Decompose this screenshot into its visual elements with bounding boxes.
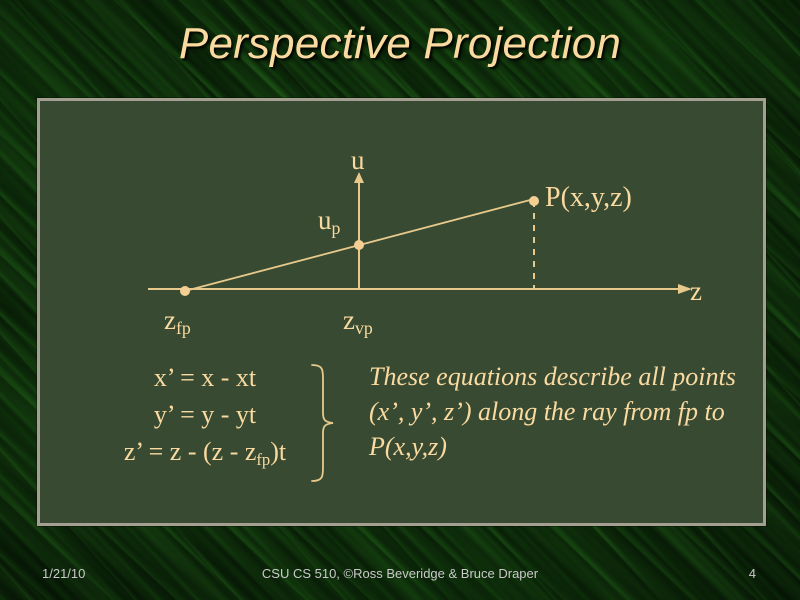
zvp-tick-label: zvp	[343, 307, 373, 334]
equation-list: x’ = x - xt y’ = y - yt z’ = z - (z - zf…	[80, 359, 330, 473]
description-text: These equations describe all points (x’,…	[369, 359, 741, 464]
equation-z-pre: z’ = z - (z - z	[124, 437, 257, 466]
up-point-label: up	[318, 207, 340, 234]
equation-x: x’ = x - xt	[80, 359, 330, 396]
u-axis-label: u	[351, 147, 365, 174]
perspective-projection-diagram	[40, 101, 769, 351]
p-point-label: P(x,y,z)	[545, 184, 632, 212]
equation-z-post: )t	[270, 437, 286, 466]
curly-brace	[306, 363, 340, 483]
zvp-label-sub: vp	[355, 318, 373, 338]
zvp-label-base: z	[343, 305, 355, 335]
up-label-sub: p	[332, 218, 341, 238]
equation-z-sub: fp	[256, 450, 270, 469]
zfp-label-sub: fp	[176, 318, 191, 338]
focal-point-dot	[180, 286, 190, 296]
slide: Perspective Projection u up P(x,y,z)	[0, 0, 800, 600]
zfp-tick-label: zfp	[164, 307, 191, 334]
z-axis-label: z	[690, 278, 702, 305]
equation-y: y’ = y - yt	[80, 396, 330, 433]
p-point-dot	[529, 196, 539, 206]
u-axis	[354, 172, 364, 289]
up-label-base: u	[318, 205, 332, 235]
z-axis	[148, 284, 692, 294]
zfp-label-base: z	[164, 305, 176, 335]
slide-title: Perspective Projection	[0, 16, 800, 72]
footer-page-number: 4	[0, 566, 800, 581]
content-panel: u up P(x,y,z) z zfp zvp x’ = x - xt y’ =…	[37, 98, 766, 526]
equation-z: z’ = z - (z - zfp)t	[80, 433, 330, 473]
up-point-dot	[354, 240, 364, 250]
